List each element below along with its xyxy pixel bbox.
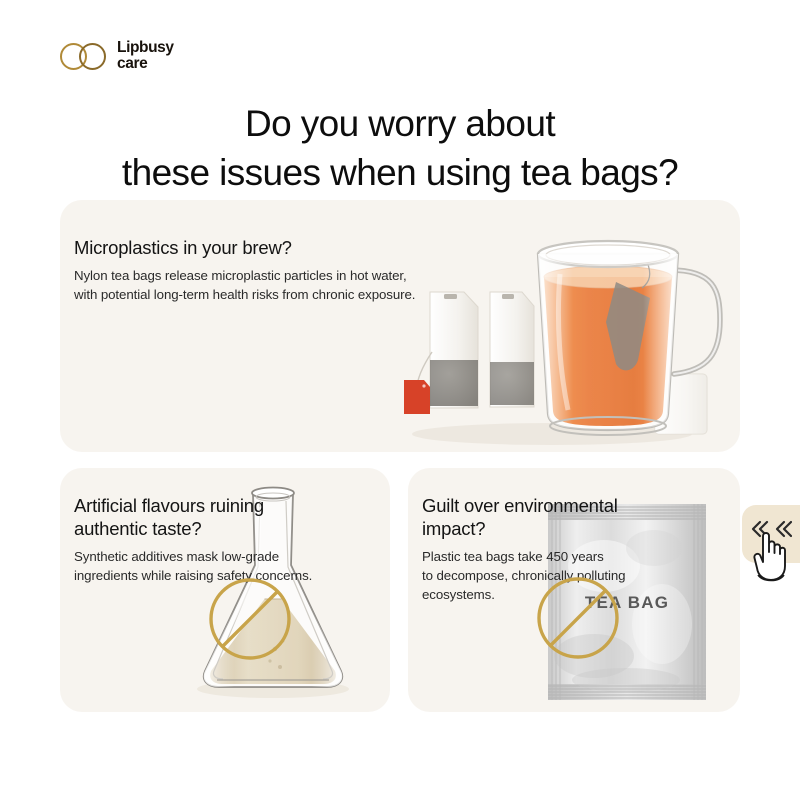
prohibition-icon <box>208 577 292 661</box>
headline-line-1: Do you worry about <box>0 100 800 149</box>
headline-line-2: these issues when using tea bags? <box>0 149 800 198</box>
brand-name-line2: care <box>117 56 174 72</box>
card-title: Guilt over environmental impact? <box>422 494 672 540</box>
tea-bag-back <box>490 292 534 407</box>
issue-card-environmental-impact[interactable]: Guilt over environmental impact? Plastic… <box>408 468 740 712</box>
prohibition-icon <box>536 576 620 660</box>
card-text-block: Microplastics in your brew? Nylon tea ba… <box>74 236 494 305</box>
card-text-block: Artificial flavours ruining authentic ta… <box>74 494 324 586</box>
pointing-hand-cursor <box>748 528 794 584</box>
page-title: Do you worry about these issues when usi… <box>0 100 800 198</box>
card-title: Artificial flavours ruining authentic ta… <box>74 494 324 540</box>
brand-name: Lipbusy care <box>117 40 174 71</box>
infographic-page: Lipbusy care Do you worry about these is… <box>0 0 800 800</box>
issue-card-artificial-flavours[interactable]: Artificial flavours ruining authentic ta… <box>60 468 390 712</box>
tea-bag-front <box>404 292 478 414</box>
brand-name-line1: Lipbusy <box>117 40 174 56</box>
card-title: Microplastics in your brew? <box>74 236 494 259</box>
issue-card-microplastics[interactable]: Microplastics in your brew? Nylon tea ba… <box>60 200 740 452</box>
two-overlapping-rings-icon <box>60 41 108 71</box>
brand-logo[interactable]: Lipbusy care <box>60 40 174 71</box>
card-body: Nylon tea bags release microplastic part… <box>74 267 494 305</box>
